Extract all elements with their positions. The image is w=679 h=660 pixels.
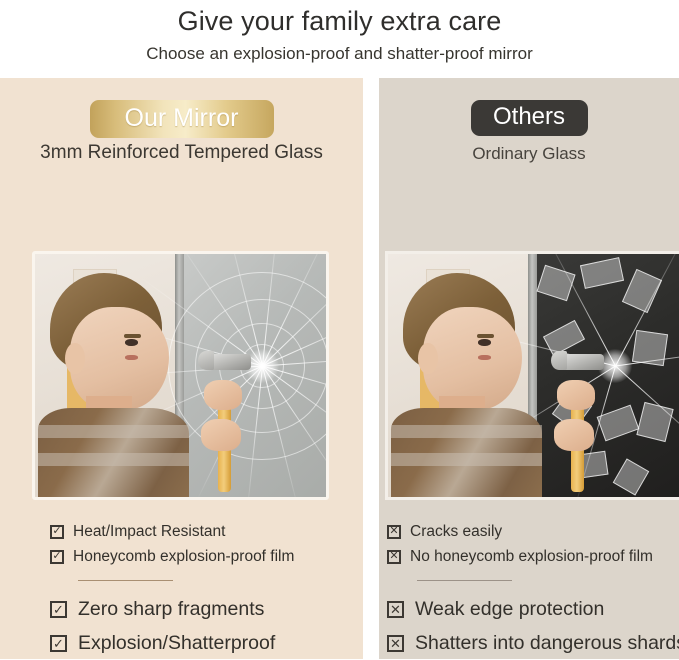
hammer-claw	[551, 351, 567, 370]
panel-our-mirror: Our Mirror 3mm Reinforced Tempered Glass	[0, 78, 363, 659]
panel-divider	[363, 78, 379, 659]
child-mouth	[478, 355, 491, 360]
feature-label: Shatters into dangerous shards	[404, 632, 679, 655]
feature-label: Explosion/Shatterproof	[67, 632, 275, 655]
child-hand-upper	[204, 380, 242, 410]
others-badge-row: Others	[379, 100, 679, 136]
checkbox-x-icon: ✕	[387, 525, 401, 539]
checkbox-x-icon: ✕	[387, 550, 401, 564]
shattered-shard-pattern	[528, 254, 679, 497]
others-feature-list: ✕ Cracks easily ✕ No honeycomb explosion…	[379, 519, 679, 660]
checkbox-x-icon: ✕	[387, 635, 404, 652]
child-hand-lower	[201, 419, 241, 451]
child-sweater	[38, 408, 189, 500]
header-banner: Give your family extra care Choose an ex…	[0, 0, 679, 78]
page-title: Give your family extra care	[0, 2, 679, 38]
checkbox-checked-icon: ✓	[50, 601, 67, 618]
photo-scene-ordinary	[388, 254, 679, 497]
checkbox-checked-icon: ✓	[50, 525, 64, 539]
checkbox-checked-icon: ✓	[50, 550, 64, 564]
our-mirror-badge: Our Mirror	[90, 100, 274, 138]
our-mirror-photo	[32, 251, 329, 500]
feature-label: Honeycomb explosion-proof film	[64, 548, 294, 566]
checkbox-x-icon: ✕	[387, 601, 404, 618]
feature-item: ✓ Honeycomb explosion-proof film	[0, 544, 363, 569]
child-hand-upper	[557, 380, 595, 410]
checkbox-checked-icon: ✓	[50, 635, 67, 652]
ordinary-glass-surface	[528, 254, 679, 497]
child-ear	[65, 343, 85, 374]
child-eyebrow	[124, 334, 141, 338]
child-figure	[394, 273, 545, 497]
feature-label: Cracks easily	[401, 523, 502, 541]
others-badge: Others	[471, 100, 588, 136]
our-mirror-badge-row: Our Mirror	[0, 100, 363, 138]
hammer-claw	[198, 351, 214, 370]
child-eye	[478, 339, 491, 346]
others-photo	[385, 251, 679, 500]
comparison-section: Our Mirror 3mm Reinforced Tempered Glass	[0, 78, 679, 659]
tempered-glass-surface	[175, 254, 326, 497]
panel-others: Others Ordinary Glass	[379, 78, 679, 659]
child-figure	[41, 273, 192, 497]
our-mirror-subtitle: 3mm Reinforced Tempered Glass	[0, 142, 363, 164]
feature-label: Zero sharp fragments	[67, 598, 264, 621]
feature-item: ✓ Heat/Impact Resistant	[0, 519, 363, 544]
feature-item: ✕ No honeycomb explosion-proof film	[379, 544, 679, 569]
photo-scene-tempered	[35, 254, 326, 497]
feature-item: ✓ Explosion/Shatterproof	[0, 626, 363, 660]
child-mouth	[125, 355, 138, 360]
feature-item: ✕ Weak edge protection	[379, 592, 679, 626]
child-eye	[125, 339, 138, 346]
child-hand-lower	[554, 419, 594, 451]
feature-item: ✕ Cracks easily	[379, 519, 679, 544]
feature-label: Heat/Impact Resistant	[64, 523, 225, 541]
feature-label: Weak edge protection	[404, 598, 604, 621]
feature-item: ✓ Zero sharp fragments	[0, 592, 363, 626]
feature-label: No honeycomb explosion-proof film	[401, 548, 653, 566]
our-mirror-feature-list: ✓ Heat/Impact Resistant ✓ Honeycomb expl…	[0, 519, 363, 660]
feature-item: ✕ Shatters into dangerous shards	[379, 626, 679, 660]
child-ear	[418, 343, 438, 374]
others-subtitle: Ordinary Glass	[379, 144, 679, 164]
page-subtitle: Choose an explosion-proof and shatter-pr…	[0, 38, 679, 66]
child-eyebrow	[477, 334, 494, 338]
feature-divider	[78, 580, 173, 581]
spiderweb-crack-pattern	[175, 254, 326, 497]
child-sweater	[391, 408, 542, 500]
feature-divider	[417, 580, 512, 581]
